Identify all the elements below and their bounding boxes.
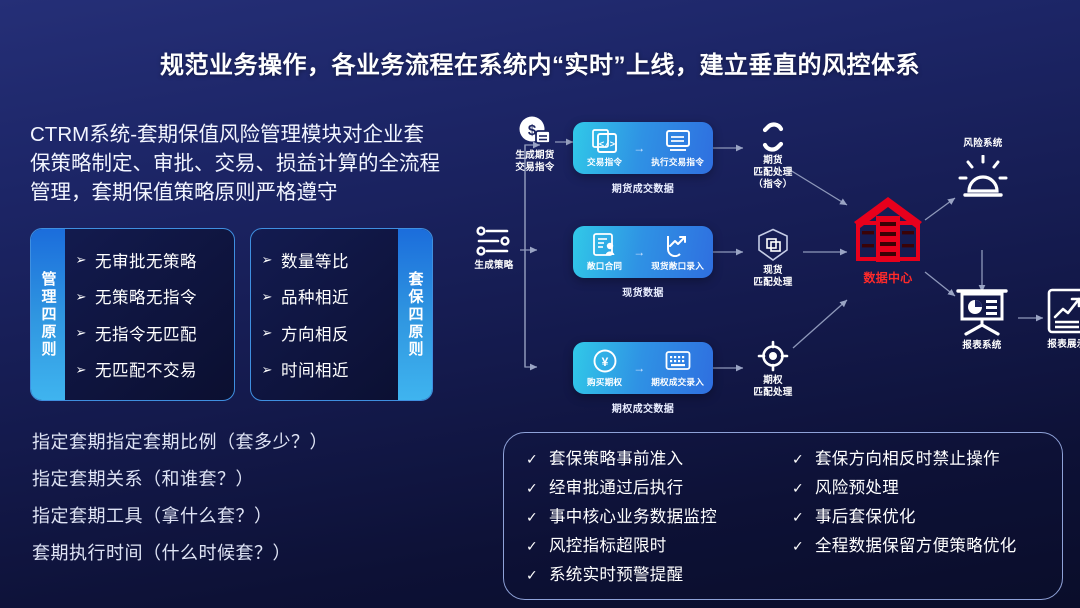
page-title: 规范业务操作，各业务流程在系统内“实时”上线，建立垂直的风控体系 (0, 45, 1080, 80)
panel-management-principles: 管理四原则 ➢ 无审批无策略 ➢ 无策略无指令 ➢ 无指令无匹配 ➢ 无匹配不交… (30, 228, 235, 401)
node-risk-system: 风险系统 (953, 138, 1013, 203)
list-item: ➢ 无策略无指令 (75, 284, 234, 308)
node-label: 生成策略 (463, 260, 525, 272)
card-half-right: 执行交易指令 (651, 129, 704, 168)
card-label: 购买期权 (587, 376, 622, 388)
question-line: 指定套期工具（拿什么套？） (32, 502, 452, 528)
check-icon: ✓ (526, 480, 539, 497)
list-item: ➢ 品种相近 (261, 284, 398, 308)
trend-search-icon (665, 233, 691, 257)
list-item-label: 无策略无指令 (95, 284, 197, 308)
card-half-left: ¥ 购买期权 (582, 349, 627, 388)
list-item-label: 经审批通过后执行 (549, 474, 683, 498)
check-icon: ✓ (526, 538, 539, 555)
list-item: ✓ 事中核心业务数据监控 (526, 503, 778, 527)
chevron-right-icon: ➢ (261, 363, 273, 376)
check-icon: ✓ (526, 509, 539, 526)
card-option-data: ¥ 购买期权 → 期权成交录入 (573, 342, 713, 394)
list-item-label: 套保策略事前准入 (549, 445, 683, 469)
list-item-label: 风控指标超限时 (549, 532, 667, 556)
list-item: ✓ 全程数据保留方便策略优化 (792, 532, 1044, 556)
svg-text:</>: </> (599, 140, 615, 150)
list-item-label: 系统实时预警提醒 (549, 561, 683, 585)
list-item: ➢ 时间相近 (261, 357, 398, 381)
card-caption-futures: 期货成交数据 (573, 180, 713, 195)
list-item-label: 事中核心业务数据监控 (549, 503, 717, 527)
node-label: 生成期货 交易指令 (503, 150, 567, 174)
node-label: 报表系统 (951, 340, 1013, 352)
card-half-right: 现货敞口录入 (651, 233, 704, 272)
arrow-right-icon: → (633, 142, 645, 154)
node-label: 风险系统 (953, 138, 1013, 150)
list-item-label: 品种相近 (281, 284, 349, 308)
target-icon (757, 340, 789, 372)
list-item: ✓ 经审批通过后执行 (526, 474, 778, 498)
card-futures-trade: </> 交易指令 → 执行交易指令 (573, 122, 713, 174)
presentation-chart-icon (954, 285, 1010, 337)
check-icon: ✓ (526, 567, 539, 584)
svg-text:¥: ¥ (601, 355, 608, 369)
list-item-label: 事后套保优化 (815, 503, 916, 527)
node-data-center: 数据中心 (845, 192, 931, 286)
list-item-label: 方向相反 (281, 321, 349, 345)
card-label: 期权成交录入 (651, 376, 704, 388)
keyboard-entry-icon (665, 349, 691, 373)
card-half-left: </> 交易指令 (582, 129, 627, 168)
list-item: ✓ 系统实时预警提醒 (526, 561, 778, 585)
card-caption-spot: 现货数据 (573, 284, 713, 299)
node-generate-strategy: 生成策略 (463, 225, 525, 272)
panel-list-hedging: ➢ 数量等比 ➢ 品种相近 ➢ 方向相反 ➢ 时间相近 (251, 229, 398, 400)
check-icon: ✓ (792, 480, 805, 497)
card-label: 执行交易指令 (651, 156, 704, 168)
coin-dollar-icon: $ (518, 115, 552, 147)
code-document-icon: </> (592, 129, 618, 153)
monitor-exchange-icon (665, 129, 691, 153)
checklist-column-right: ✓ 套保方向相反时禁止操作 ✓ 风险预处理 ✓ 事后套保优化 ✓ 全程数据保留方… (792, 445, 1044, 589)
node-option-match: 期权 匹配处理 (743, 340, 803, 399)
list-item: ✓ 风险预处理 (792, 474, 1044, 498)
panel-hedging-principles: ➢ 数量等比 ➢ 品种相近 ➢ 方向相反 ➢ 时间相近 套保四原则 (250, 228, 433, 401)
alarm-light-icon (958, 155, 1008, 203)
list-item-label: 风险预处理 (815, 474, 899, 498)
report-trend-icon (1046, 288, 1080, 336)
node-futures-match: 期货 匹配处理 （指令） (743, 122, 803, 191)
check-icon: ✓ (526, 451, 539, 468)
node-spot-match: 现货 匹配处理 (743, 228, 803, 289)
settings-sliders-icon (474, 225, 514, 257)
panel-list-management: ➢ 无审批无策略 ➢ 无策略无指令 ➢ 无指令无匹配 ➢ 无匹配不交易 (65, 229, 234, 400)
list-item-label: 全程数据保留方便策略优化 (815, 532, 1017, 556)
list-item-label: 无审批无策略 (95, 248, 197, 272)
check-icon: ✓ (792, 451, 805, 468)
question-line: 套期执行时间（什么时候套？） (32, 539, 452, 565)
question-line: 指定套期关系（和谁套？） (32, 465, 452, 491)
chevron-right-icon: ➢ (75, 326, 87, 339)
list-item: ➢ 无指令无匹配 (75, 321, 234, 345)
panel-tab-management: 管理四原则 (31, 229, 65, 400)
node-label: 期货 匹配处理 （指令） (743, 155, 803, 191)
list-item: ✓ 套保策略事前准入 (526, 445, 778, 469)
chevron-right-icon: ➢ (75, 253, 87, 266)
chevron-right-icon: ➢ (261, 253, 273, 266)
slide-canvas: 规范业务操作，各业务流程在系统内“实时”上线，建立垂直的风控体系 CTRM系统-… (0, 0, 1080, 608)
chevron-right-icon: ➢ (75, 363, 87, 376)
list-item: ➢ 无审批无策略 (75, 248, 234, 272)
list-item-label: 套保方向相反时禁止操作 (815, 445, 1000, 469)
card-label: 交易指令 (587, 156, 622, 168)
arrow-right-icon: → (633, 246, 645, 258)
data-center-building-icon (849, 192, 927, 268)
list-item-label: 数量等比 (281, 248, 349, 272)
yen-coin-icon: ¥ (592, 349, 618, 373)
node-report-system: 报表系统 (951, 285, 1013, 352)
list-item: ✓ 事后套保优化 (792, 503, 1044, 527)
node-label: 期权 匹配处理 (743, 375, 803, 399)
chevron-right-icon: ➢ (261, 290, 273, 303)
arrow-right-icon: → (633, 362, 645, 374)
card-half-right: 期权成交录入 (651, 349, 704, 388)
checklist-panel: ✓ 套保策略事前准入 ✓ 经审批通过后执行 ✓ 事中核心业务数据监控 ✓ 风控指… (503, 432, 1063, 600)
hexagon-layers-icon (757, 228, 789, 262)
node-label: 现货 匹配处理 (743, 265, 803, 289)
node-label: 数据中心 (845, 271, 931, 286)
process-flow-diagram: 生成策略 $ 生成期货 交易指令 </> 交易指令 (455, 100, 1080, 430)
chevron-right-icon: ➢ (75, 290, 87, 303)
list-item: ➢ 方向相反 (261, 321, 398, 345)
node-report-display: 报表展示 (1039, 288, 1080, 351)
list-item: ➢ 无匹配不交易 (75, 357, 234, 381)
card-half-left: 敞口合同 (582, 233, 627, 272)
panel-tab-hedging: 套保四原则 (398, 229, 432, 400)
list-item: ✓ 风控指标超限时 (526, 532, 778, 556)
card-label: 敞口合同 (587, 260, 622, 272)
list-item-label: 无匹配不交易 (95, 357, 197, 381)
swap-s-icon (757, 122, 789, 152)
intro-paragraph: CTRM系统-套期保值风险管理模块对企业套保策略制定、审批、交易、损益计算的全流… (30, 120, 440, 207)
list-item-label: 时间相近 (281, 357, 349, 381)
card-label: 现货敞口录入 (651, 260, 704, 272)
chevron-right-icon: ➢ (261, 326, 273, 339)
check-icon: ✓ (792, 538, 805, 555)
card-caption-option: 期权成交数据 (573, 400, 713, 415)
card-spot-data: 敞口合同 → 现货敞口录入 (573, 226, 713, 278)
question-line: 指定套期指定套期比例（套多少？） (32, 428, 452, 454)
checklist-column-left: ✓ 套保策略事前准入 ✓ 经审批通过后执行 ✓ 事中核心业务数据监控 ✓ 风控指… (526, 445, 778, 589)
list-item-label: 无指令无匹配 (95, 321, 197, 345)
contract-person-icon (592, 233, 618, 257)
question-list: 指定套期指定套期比例（套多少？） 指定套期关系（和谁套？） 指定套期工具（拿什么… (32, 428, 452, 565)
list-item: ✓ 套保方向相反时禁止操作 (792, 445, 1044, 469)
check-icon: ✓ (792, 509, 805, 526)
node-label: 报表展示 (1039, 339, 1080, 351)
node-generate-futures-order: $ 生成期货 交易指令 (503, 115, 567, 174)
list-item: ➢ 数量等比 (261, 248, 398, 272)
